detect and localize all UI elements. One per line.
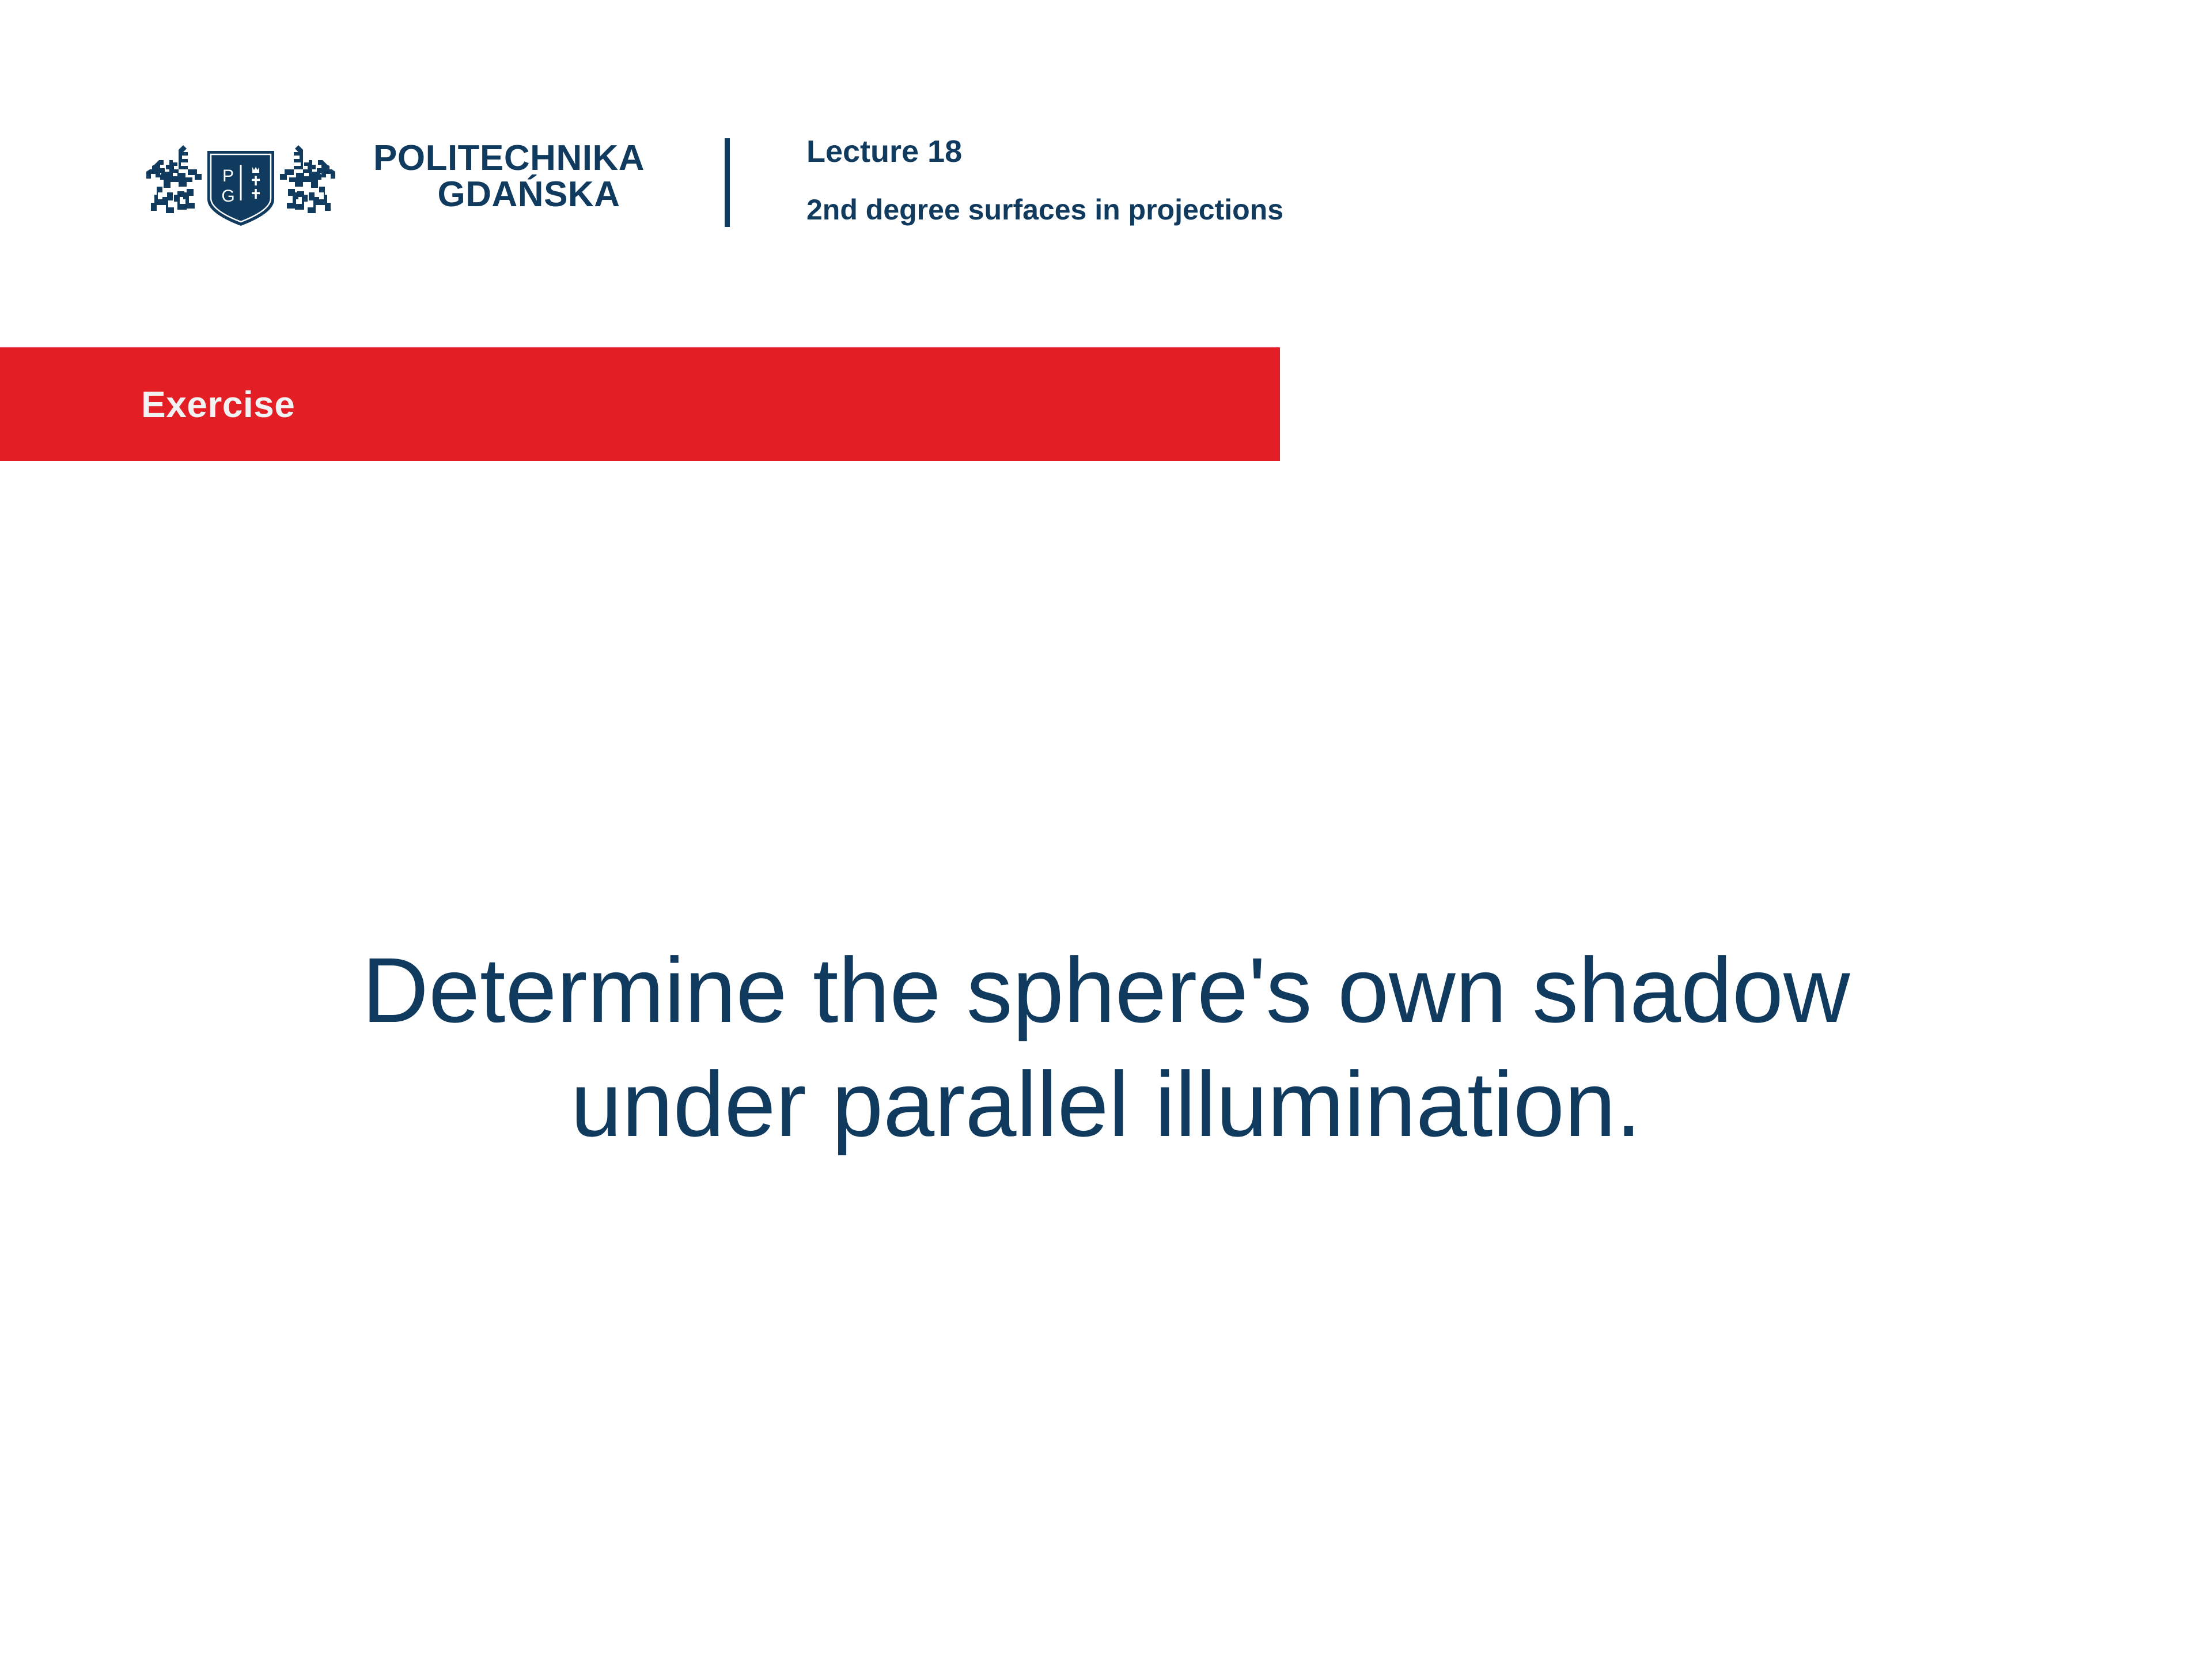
lecture-heading: Lecture 18 2nd degree surfaces in projec… xyxy=(806,134,1283,227)
section-banner: Exercise xyxy=(0,347,1280,461)
heraldic-lion-right-icon xyxy=(280,145,335,213)
lecture-number: Lecture 18 xyxy=(806,134,1283,169)
section-banner-label: Exercise xyxy=(141,347,295,461)
vertical-divider-icon xyxy=(725,138,730,227)
body-line-1: Determine the sphere's own shadow xyxy=(0,933,2212,1047)
politechnika-gdanska-crest-logo: P G xyxy=(137,137,344,236)
shield-letter-g: G xyxy=(221,187,234,206)
wordmark-line-gdanska: GDAŃSKA xyxy=(373,176,684,213)
body-line-2: under parallel illumination. xyxy=(0,1047,2212,1161)
lecture-subject: 2nd degree surfaces in projections xyxy=(806,194,1283,227)
slide-header: P G POLITECHNIKA GDAŃSKA Lecture 18 2nd … xyxy=(0,0,2212,346)
shield-letter-p: P xyxy=(222,166,234,185)
slide-body: Determine the sphere's own shadow under … xyxy=(0,933,2212,1162)
crest-logo-icon: P G xyxy=(137,137,344,236)
wordmark-line-politechnika: POLITECHNIKA xyxy=(373,140,684,176)
heraldic-lion-left-icon xyxy=(146,145,202,213)
shield-icon: P G xyxy=(207,151,274,226)
university-wordmark: POLITECHNIKA GDAŃSKA xyxy=(373,140,684,213)
